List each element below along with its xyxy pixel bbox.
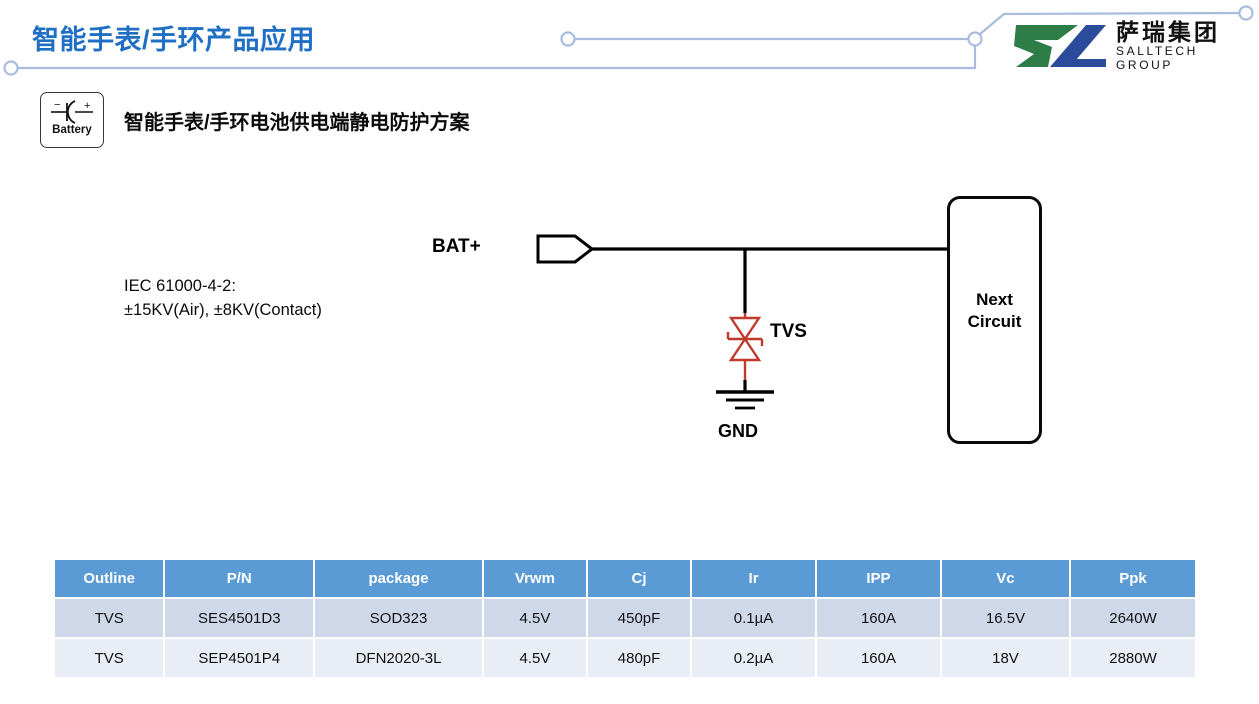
page-title: 智能手表/手环产品应用 xyxy=(32,18,315,57)
column-header-cj: Cj xyxy=(587,560,691,598)
cell-vrwm: 4.5V xyxy=(483,638,587,678)
ground-symbol xyxy=(716,392,774,408)
cell-ir: 0.2µA xyxy=(691,638,816,678)
cell-ipp: 160A xyxy=(816,598,941,638)
cell-vrwm: 4.5V xyxy=(483,598,587,638)
salltech-logo-mark xyxy=(1012,23,1108,69)
next-circuit-block: Next Circuit xyxy=(947,196,1042,444)
section-subtitle: 智能手表/手环电池供电端静电防护方案 xyxy=(124,106,470,135)
cell-cj: 450pF xyxy=(587,598,691,638)
table-row: TVS SEP4501P4 DFN2020-3L 4.5V 480pF 0.2µ… xyxy=(55,638,1195,678)
battery-icon: − + Battery xyxy=(40,92,104,148)
brand-logo: 萨瑞集团 SALLTECH GROUP xyxy=(1012,20,1250,72)
cell-vc: 18V xyxy=(941,638,1070,678)
battery-icon-caption: Battery xyxy=(41,124,103,136)
cell-pn: SES4501D3 xyxy=(164,598,314,638)
table-header-row: Outline P/N package Vrwm Cj Ir IPP Vc Pp… xyxy=(55,560,1195,598)
esd-protection-schematic xyxy=(0,170,1259,490)
table-row: TVS SES4501D3 SOD323 4.5V 450pF 0.1µA 16… xyxy=(55,598,1195,638)
deco-circle-left xyxy=(5,62,18,75)
column-header-ir: Ir xyxy=(691,560,816,598)
column-header-ppk: Ppk xyxy=(1070,560,1195,598)
next-circuit-label: Next Circuit xyxy=(950,289,1039,333)
bat-plus-label: BAT+ xyxy=(432,236,481,258)
deco-circle-right xyxy=(1240,7,1253,20)
deco-circle-middle xyxy=(562,33,575,46)
brand-name-en: SALLTECH GROUP xyxy=(1116,45,1250,71)
brand-name-cn: 萨瑞集团 xyxy=(1116,20,1250,44)
tvs-label: TVS xyxy=(770,321,807,343)
gnd-label: GND xyxy=(718,421,758,442)
column-header-ipp: IPP xyxy=(816,560,941,598)
battery-symbol-icon: − + xyxy=(47,98,99,124)
cell-ipp: 160A xyxy=(816,638,941,678)
cell-cj: 480pF xyxy=(587,638,691,678)
tvs-diode-symbol xyxy=(728,313,762,383)
cell-ppk: 2880W xyxy=(1070,638,1195,678)
cell-outline: TVS xyxy=(55,638,164,678)
cell-ir: 0.1µA xyxy=(691,598,816,638)
cell-package: DFN2020-3L xyxy=(314,638,483,678)
column-header-pn: P/N xyxy=(164,560,314,598)
column-header-vrwm: Vrwm xyxy=(483,560,587,598)
tvs-spec-table: Outline P/N package Vrwm Cj Ir IPP Vc Pp… xyxy=(55,560,1195,679)
column-header-outline: Outline xyxy=(55,560,164,598)
column-header-package: package xyxy=(314,560,483,598)
bat-connector-symbol xyxy=(538,236,592,262)
column-header-vc: Vc xyxy=(941,560,1070,598)
cell-package: SOD323 xyxy=(314,598,483,638)
cell-vc: 16.5V xyxy=(941,598,1070,638)
svg-text:−: − xyxy=(54,99,60,111)
deco-circle-junction xyxy=(969,33,982,46)
cell-pn: SEP4501P4 xyxy=(164,638,314,678)
svg-text:+: + xyxy=(84,100,90,112)
cell-outline: TVS xyxy=(55,598,164,638)
cell-ppk: 2640W xyxy=(1070,598,1195,638)
